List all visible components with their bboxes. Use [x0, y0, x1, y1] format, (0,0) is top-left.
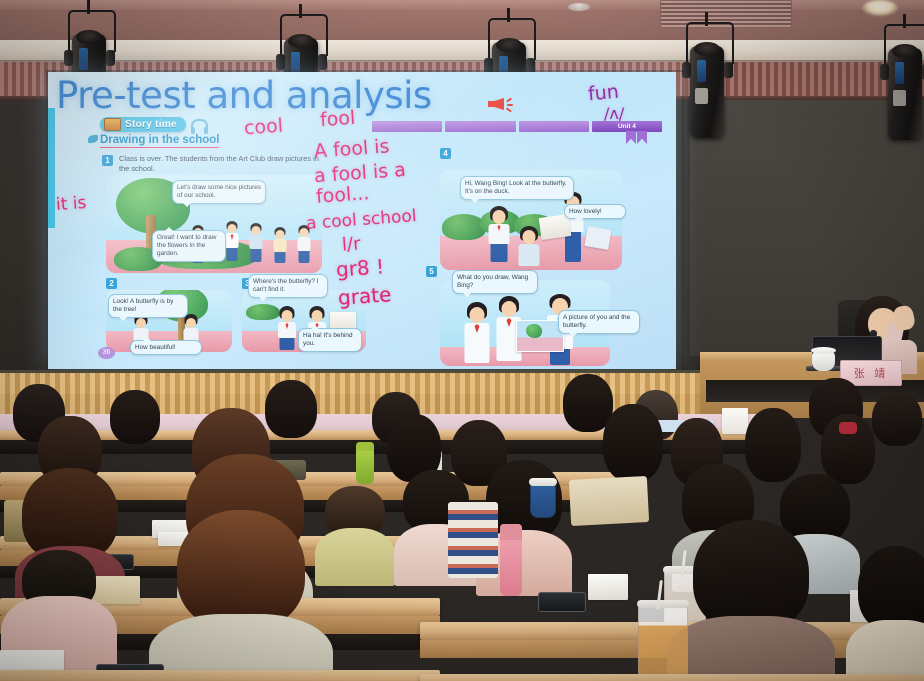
- student-figure: [462, 302, 492, 364]
- water-bottle-pink: [500, 524, 522, 596]
- spotlight-lens: [892, 44, 918, 58]
- speech-bubble: Let's draw some nice pictures of our sch…: [172, 180, 266, 204]
- head: [276, 230, 285, 239]
- head: [228, 224, 237, 233]
- legs: [491, 244, 508, 262]
- spotlight-knob: [106, 50, 115, 66]
- head: [523, 230, 536, 244]
- speaker-wave: [507, 104, 513, 106]
- water-bottle-green: [356, 442, 374, 484]
- speaker-icon[interactable]: [488, 95, 514, 113]
- spotlight-led: [697, 60, 706, 82]
- ceiling-lamp: [862, 0, 898, 16]
- speech-bubble: Where's the butterfly? I can't find it.: [248, 274, 328, 298]
- head: [136, 318, 146, 328]
- slide-subtitle: Drawing in the school: [100, 134, 219, 148]
- attendee: [148, 510, 334, 681]
- bottle-cap: [356, 442, 374, 451]
- story-time-badge: Story time: [100, 117, 186, 132]
- head: [493, 210, 506, 224]
- audience-area: [0, 374, 924, 681]
- desk-row-front: [0, 670, 440, 681]
- panel-number-2: 2: [106, 278, 117, 289]
- speech-bubble: How lovely!: [564, 204, 626, 219]
- attendee: [846, 546, 924, 681]
- head: [177, 510, 305, 630]
- teacup-lid: [811, 347, 836, 354]
- cup-lid: [637, 600, 689, 608]
- projection-screen: Pre-test and analysis Story time Drawing…: [48, 72, 676, 369]
- speaker-wave: [506, 97, 512, 102]
- spotlight-knob: [880, 64, 889, 80]
- speech-bubble: Look! A butterfly is by the tree!: [108, 294, 188, 318]
- striped-bag: [448, 502, 498, 578]
- cup-lid: [529, 478, 557, 486]
- spotlight-knob: [276, 54, 285, 70]
- page-number: 36: [98, 347, 115, 359]
- legs: [280, 338, 295, 350]
- story-time-label: Story time: [125, 119, 177, 130]
- annotation-fun: fun: [587, 81, 620, 106]
- headphone-icon: [191, 119, 208, 131]
- attendee: [666, 520, 836, 681]
- hair-clip: [839, 422, 857, 434]
- head: [603, 404, 663, 482]
- easel-icon: [584, 226, 611, 250]
- spotlight-lens: [288, 34, 314, 48]
- head: [502, 301, 517, 317]
- paper-stack: [588, 574, 628, 600]
- legs: [275, 252, 286, 263]
- spotlight-knob: [318, 54, 327, 70]
- panel-number-5: 5: [426, 266, 437, 277]
- attendee: [108, 390, 162, 448]
- student-figure: [272, 227, 288, 265]
- lecture-hall-screenshot: Pre-test and analysis Story time Drawing…: [0, 0, 924, 681]
- annotation-cool: cool: [243, 115, 283, 140]
- student-figure: [224, 221, 240, 265]
- spotlight-led: [895, 62, 904, 84]
- body: [846, 620, 924, 681]
- annotation-a-fool-is: A fool is: [313, 135, 390, 162]
- body: [667, 616, 835, 681]
- spotlight-led: [79, 48, 88, 70]
- annotation-a-cool-school: a cool school: [305, 206, 417, 234]
- speech-bubble: Hi, Wang Bing! Look at the butterfly. It…: [460, 176, 574, 200]
- panel-number-4: 4: [440, 148, 451, 159]
- desk-row-front-right: [420, 674, 924, 681]
- panel-number-1: 1: [102, 155, 113, 166]
- spotlight-lens: [76, 30, 102, 44]
- attendee: [600, 404, 666, 488]
- head: [470, 307, 485, 323]
- head: [872, 392, 922, 446]
- bottle-cap: [500, 524, 522, 540]
- head: [186, 318, 196, 328]
- book-icon: [104, 118, 121, 131]
- speaker-cone: [488, 98, 504, 110]
- annotation-it-is: it is: [55, 193, 87, 215]
- student-figure: [248, 223, 264, 265]
- spotlight-knob: [724, 62, 733, 78]
- legs: [565, 232, 581, 262]
- speech-bubble: How beautiful!: [130, 340, 202, 355]
- tab-segment[interactable]: [445, 121, 515, 132]
- ribbon-icon: [626, 131, 648, 144]
- legs: [251, 249, 262, 262]
- legs: [299, 251, 310, 263]
- intro-text: Class is over. The students from the Art…: [119, 154, 319, 174]
- annotation-grate: grate: [337, 282, 392, 310]
- torso: [298, 237, 311, 251]
- canvas-bag: [569, 476, 649, 526]
- torso: [274, 239, 287, 252]
- annotation-gr8: gr8 !: [335, 254, 385, 281]
- annotation-fool: fool: [319, 107, 356, 131]
- ceiling-soffit: [0, 40, 924, 62]
- student-figure: [276, 306, 298, 350]
- annotation-phoneme-uh: /ʌ/: [604, 104, 624, 123]
- head: [110, 390, 160, 444]
- head: [252, 226, 261, 235]
- attendee: [870, 392, 924, 450]
- speech-bubble: What do you draw, Wang Bing?: [452, 270, 538, 294]
- spotlight-knob: [64, 50, 73, 66]
- spotlight-tag: [893, 90, 906, 106]
- speaker-wave: [506, 107, 512, 112]
- annotation-fool-ellipsis: fool...: [315, 182, 370, 208]
- bubble-tea-cup: [638, 604, 688, 680]
- head: [282, 310, 293, 322]
- smoke-detector-icon: [568, 3, 590, 11]
- flower-bush: [442, 214, 486, 240]
- spotlight-tag: [695, 88, 708, 104]
- tree-icon: [526, 324, 542, 338]
- flower-bush: [246, 304, 280, 320]
- torso: [519, 244, 540, 266]
- tab-segment[interactable]: [519, 121, 589, 132]
- slide-accent-bar: [48, 108, 55, 228]
- annotation-l-r: l/r: [341, 233, 361, 255]
- torso: [250, 235, 263, 249]
- smartphone: [538, 592, 586, 612]
- page-title: Pre-test and analysis: [56, 74, 432, 117]
- teacup: [812, 352, 835, 371]
- speech-bubble: Ha ha! It's behind you.: [298, 328, 362, 352]
- coffee-cup: [530, 482, 556, 518]
- speech-bubble: Great! I want to draw the flowers in the…: [152, 230, 226, 262]
- story-time-header: Story time: [100, 117, 208, 132]
- spotlight-lens: [496, 38, 522, 52]
- student-figure: [516, 226, 542, 270]
- tab-segment[interactable]: [372, 121, 442, 132]
- student-figure: [486, 206, 512, 264]
- legs: [227, 248, 238, 261]
- speech-bubble: A picture of you and the butterfly.: [558, 310, 640, 334]
- spotlight-lens: [694, 42, 720, 56]
- leaf-icon: [88, 135, 98, 143]
